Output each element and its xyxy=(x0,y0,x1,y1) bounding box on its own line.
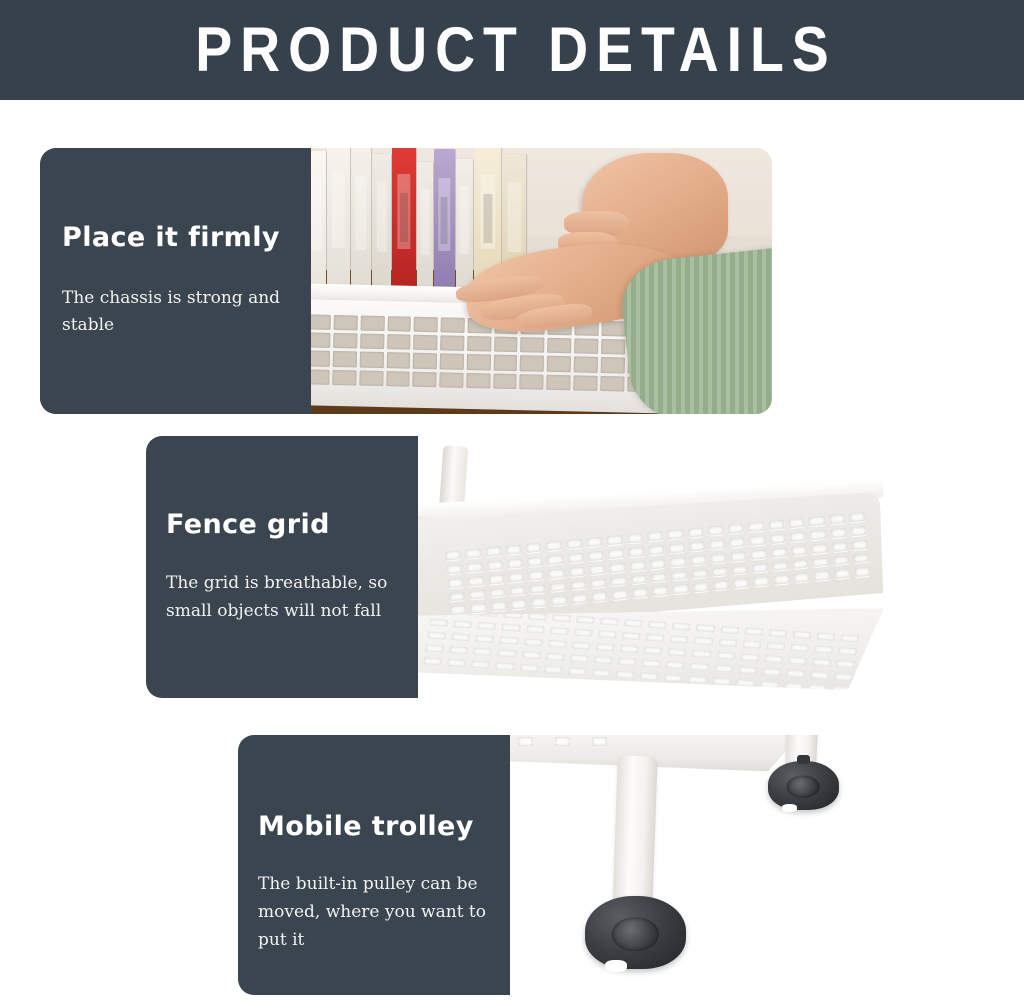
product-details-infographic: PRODUCT DETAILS xyxy=(0,0,1024,1001)
feature-heading: Place it firmly xyxy=(62,222,280,253)
book-spine xyxy=(434,149,455,307)
caster-wheel-back xyxy=(768,761,839,810)
feature-body: The grid is breathable, so small objects… xyxy=(166,569,416,625)
feature-body: The chassis is strong and stable xyxy=(62,285,302,339)
feature-row-mobile-trolley: Mobile trolley The built-in pulley can b… xyxy=(238,735,984,995)
book-spine xyxy=(392,148,416,308)
front-hole-grid xyxy=(445,512,870,616)
feature-panel-place-it-firmly: Place it firmly The chassis is strong an… xyxy=(40,148,311,414)
feature-row-fence-grid: Fence grid The grid is breathable, so sm… xyxy=(146,436,883,698)
feature-body: The built-in pulley can be moved, where … xyxy=(258,870,508,954)
basket-body xyxy=(412,480,883,695)
feature-row-place-it-firmly: Place it firmly The chassis is strong an… xyxy=(40,148,772,414)
trolley-leg-front xyxy=(612,755,658,912)
header-band: PRODUCT DETAILS xyxy=(0,0,1024,100)
feature-heading: Fence grid xyxy=(166,509,330,540)
caster-wheel-front xyxy=(585,896,686,969)
green-sweater-sleeve xyxy=(617,245,772,414)
feature-panel-mobile-trolley: Mobile trolley The built-in pulley can b… xyxy=(238,735,510,995)
feature-heading: Mobile trolley xyxy=(258,811,474,842)
feature-panel-fence-grid: Fence grid The grid is breathable, so sm… xyxy=(146,436,418,698)
page-title: PRODUCT DETAILS xyxy=(61,0,962,100)
base-hole-grid xyxy=(424,606,861,694)
